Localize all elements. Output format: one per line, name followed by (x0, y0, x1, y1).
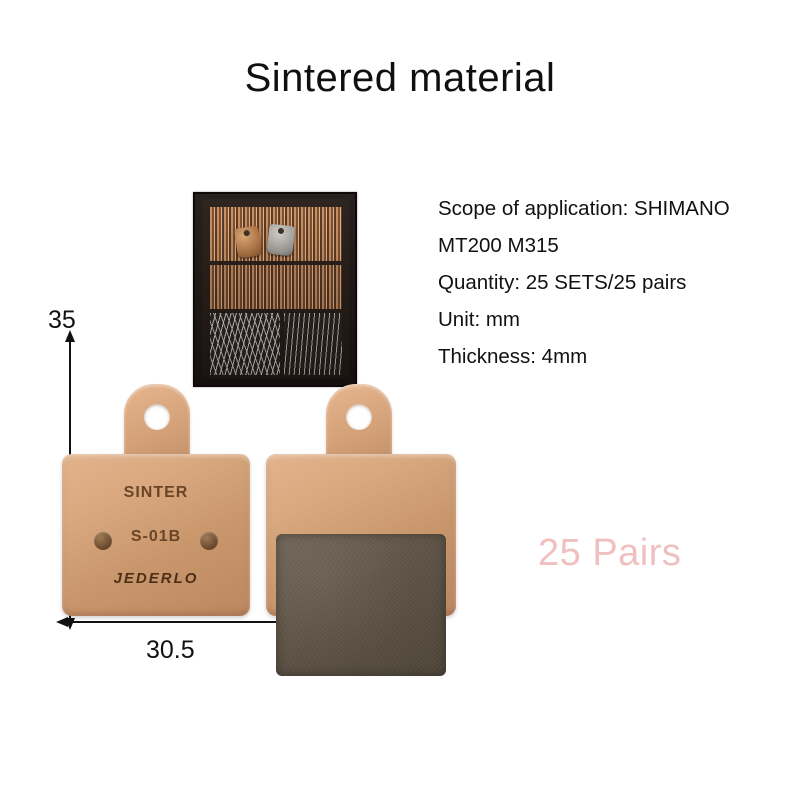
springs-compartment (210, 313, 280, 375)
specification-list: Scope of application: SHIMANO MT200 M315… (438, 190, 788, 375)
spec-line-quantity: Quantity: 25 SETS/25 pairs (438, 264, 788, 301)
pad-left-code-text: S-01B (62, 528, 250, 546)
pads-stack-middle-compartment (210, 265, 342, 309)
pad-right-friction-surface (276, 534, 446, 676)
page-title: Sintered material (0, 56, 800, 101)
product-box-photo (193, 192, 357, 387)
box-interior (202, 199, 349, 378)
brake-pad-left: SINTER S-01B JEDERLO (62, 384, 250, 616)
brake-pad-right (266, 384, 456, 616)
pad-right-pin-hole (346, 404, 372, 430)
width-dimension-label: 30.5 (146, 636, 195, 665)
pad-right-body (266, 454, 456, 616)
spec-line-scope: Scope of application: SHIMANO (438, 190, 788, 227)
pins-compartment (284, 313, 342, 375)
pad-left-pin-hole (144, 404, 170, 430)
spec-line-unit: Unit: mm (438, 301, 788, 338)
spec-line-models: MT200 M315 (438, 227, 788, 264)
pairs-badge: 25 Pairs (538, 532, 681, 575)
pad-left-brand-text: JEDERLO (62, 570, 250, 587)
spec-line-thickness: Thickness: 4mm (438, 338, 788, 375)
sample-pad-silver (267, 224, 296, 257)
pad-left-sinter-text: SINTER (62, 484, 250, 502)
sample-pad-copper (234, 225, 262, 258)
